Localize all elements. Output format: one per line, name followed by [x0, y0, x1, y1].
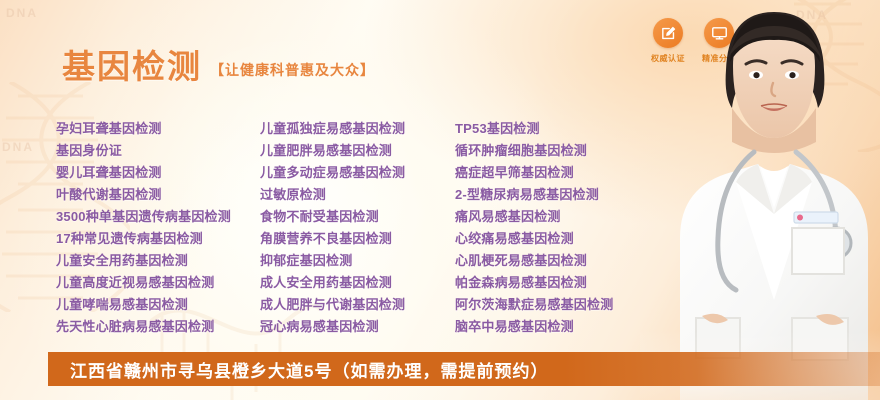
list-item[interactable]: 叶酸代谢基因检测	[56, 184, 260, 206]
list-item[interactable]: 儿童高度近视易感基因检测	[56, 272, 260, 294]
list-item[interactable]: 阿尔茨海默症易感基因检测	[455, 294, 685, 316]
list-item[interactable]: 癌症超早筛基因检测	[455, 162, 685, 184]
list-item[interactable]: 儿童多动症易感基因检测	[260, 162, 455, 184]
poster-root: DNA DNA DNA DNA 基因检测 【让健康科普惠及大众】 权威认证	[0, 0, 880, 400]
page-title: 基因检测	[62, 50, 202, 83]
watermark-text-top-right: DNA	[796, 8, 828, 22]
list-item[interactable]: 婴儿耳聋基因检测	[56, 162, 260, 184]
list-item[interactable]: 心肌梗死易感基因检测	[455, 250, 685, 272]
service-column-2: 儿童孤独症易感基因检测 儿童肥胖易感基因检测 儿童多动症易感基因检测 过敏原检测…	[260, 118, 455, 338]
list-item[interactable]: 过敏原检测	[260, 184, 455, 206]
page-title-block: 基因检测 【让健康科普惠及大众】	[62, 50, 375, 83]
list-item[interactable]: 儿童肥胖易感基因检测	[260, 140, 455, 162]
feature-badge-typing[interactable]: 精准分型	[702, 18, 736, 64]
watermark-text-top-left: DNA	[6, 6, 38, 20]
feature-badge-authority[interactable]: 权威认证	[651, 18, 685, 64]
edit-pen-icon	[653, 18, 683, 48]
list-item[interactable]: 心绞痛易感基因检测	[455, 228, 685, 250]
document-pen-icon	[755, 18, 785, 48]
address-banner: 江西省赣州市寻乌县橙乡大道5号（如需办理，需提前预约）	[48, 352, 880, 386]
list-item[interactable]: 循环肿瘤细胞基因检测	[455, 140, 685, 162]
service-column-1: 孕妇耳聋基因检测 基因身份证 婴儿耳聋基因检测 叶酸代谢基因检测 3500种单基…	[56, 118, 260, 338]
list-item[interactable]: 冠心病易感基因检测	[260, 316, 455, 338]
list-item[interactable]: 抑郁症基因检测	[260, 250, 455, 272]
feature-badge-self-check[interactable]: 轻松自检	[753, 18, 787, 64]
monitor-screen-icon	[704, 18, 734, 48]
list-item[interactable]: 17种常见遗传病基因检测	[56, 228, 260, 250]
list-item[interactable]: TP53基因检测	[455, 118, 685, 140]
address-banner-text: 江西省赣州市寻乌县橙乡大道5号（如需办理，需提前预约）	[48, 357, 548, 382]
list-item[interactable]: 先天性心脏病易感基因检测	[56, 316, 260, 338]
feature-badge-label: 精准分型	[702, 53, 736, 64]
list-item[interactable]: 角膜营养不良基因检测	[260, 228, 455, 250]
list-item[interactable]: 儿童孤独症易感基因检测	[260, 118, 455, 140]
list-item[interactable]: 成人安全用药基因检测	[260, 272, 455, 294]
list-item[interactable]: 儿童安全用药基因检测	[56, 250, 260, 272]
list-item[interactable]: 基因身份证	[56, 140, 260, 162]
list-item[interactable]: 成人肥胖与代谢基因检测	[260, 294, 455, 316]
list-item[interactable]: 食物不耐受基因检测	[260, 206, 455, 228]
list-item[interactable]: 儿童哮喘易感基因检测	[56, 294, 260, 316]
service-list: 孕妇耳聋基因检测 基因身份证 婴儿耳聋基因检测 叶酸代谢基因检测 3500种单基…	[56, 118, 685, 338]
list-item[interactable]: 帕金森病易感基因检测	[455, 272, 685, 294]
list-item[interactable]: 痛风易感基因检测	[455, 206, 685, 228]
page-subtitle: 【让健康科普惠及大众】	[210, 60, 375, 83]
feature-badge-label: 轻松自检	[753, 53, 787, 64]
watermark-text-mid-left: DNA	[2, 140, 34, 154]
list-item[interactable]: 3500种单基因遗传病基因检测	[56, 206, 260, 228]
feature-badge-label: 权威认证	[651, 53, 685, 64]
feature-badge-group: 权威认证 精准分型 轻松自检	[651, 18, 787, 64]
list-item[interactable]: 2-型糖尿病易感基因检测	[455, 184, 685, 206]
list-item[interactable]: 孕妇耳聋基因检测	[56, 118, 260, 140]
list-item[interactable]: 脑卒中易感基因检测	[455, 316, 685, 338]
service-column-3: TP53基因检测 循环肿瘤细胞基因检测 癌症超早筛基因检测 2-型糖尿病易感基因…	[455, 118, 685, 338]
